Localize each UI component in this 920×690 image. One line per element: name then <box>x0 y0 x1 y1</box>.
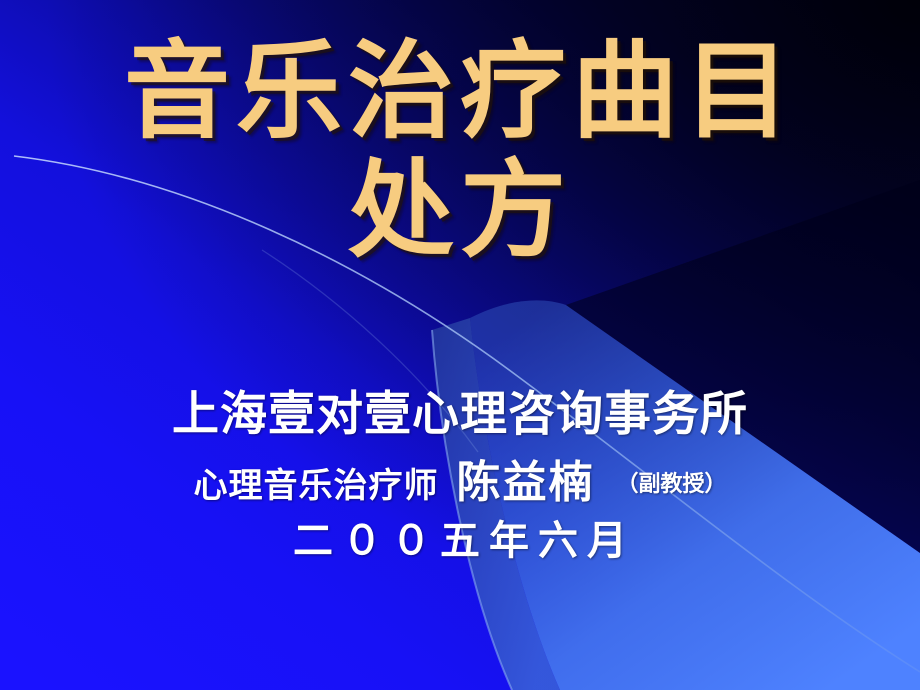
subtitle-presenter-name: 陈益楠 <box>456 458 594 507</box>
subtitle-presenter-rank: （副教授） <box>616 471 726 496</box>
subtitle-date: 二００五年六月 <box>0 521 920 561</box>
slide-title: 音乐治疗曲目 处方 <box>0 30 920 274</box>
title-line-2: 处方 <box>0 149 920 274</box>
subtitle-role: 心理音乐治疗师 <box>193 468 438 505</box>
title-line-1: 音乐治疗曲目 <box>0 30 920 155</box>
subtitle-organization: 上海壹对壹心理咨询事务所 <box>0 392 920 439</box>
slide-content: 音乐治疗曲目 处方 上海壹对壹心理咨询事务所 心理音乐治疗师陈益楠（副教授） 二… <box>0 0 920 690</box>
title-slide: 音乐治疗曲目 处方 上海壹对壹心理咨询事务所 心理音乐治疗师陈益楠（副教授） 二… <box>0 0 920 690</box>
subtitle-presenter-row: 心理音乐治疗师陈益楠（副教授） <box>0 461 920 505</box>
slide-subtitle: 上海壹对壹心理咨询事务所 心理音乐治疗师陈益楠（副教授） 二００五年六月 <box>0 392 920 561</box>
